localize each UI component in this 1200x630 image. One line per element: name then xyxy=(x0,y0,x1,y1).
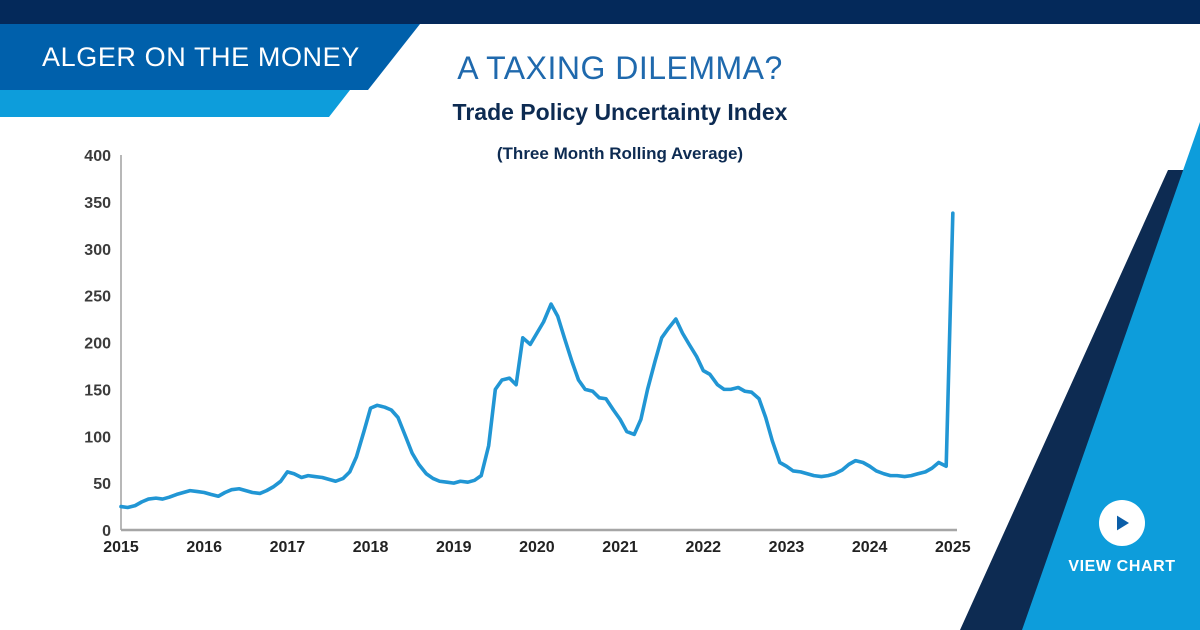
x-axis-tick-label: 2024 xyxy=(852,539,888,556)
x-axis-ticks: 2015201620172018201920202021202220232024… xyxy=(103,539,971,556)
view-chart-label: VIEW CHART xyxy=(1057,558,1187,576)
view-chart-button[interactable]: VIEW CHART xyxy=(1057,500,1187,576)
y-axis-tick-label: 250 xyxy=(84,289,111,306)
y-axis-tick-label: 300 xyxy=(84,242,111,259)
play-icon[interactable] xyxy=(1099,500,1145,546)
infographic-card: ALGER ON THE MONEY A TAXING DILEMMA? Tra… xyxy=(0,0,1200,630)
x-axis-tick-label: 2022 xyxy=(685,539,721,556)
y-axis-tick-label: 400 xyxy=(84,148,111,165)
y-axis-ticks: 050100150200250300350400 xyxy=(84,148,111,540)
y-axis-tick-label: 350 xyxy=(84,195,111,212)
data-series-line xyxy=(121,213,953,507)
x-axis-tick-label: 2017 xyxy=(270,539,306,556)
y-axis-tick-label: 0 xyxy=(102,523,111,540)
y-axis-tick-label: 200 xyxy=(84,336,111,353)
line-chart: 050100150200250300350400 201520162017201… xyxy=(0,0,1000,600)
x-axis-tick-label: 2021 xyxy=(602,539,638,556)
chart-container: 050100150200250300350400 201520162017201… xyxy=(0,0,1000,600)
y-axis-tick-label: 50 xyxy=(93,476,111,493)
x-axis-tick-label: 2016 xyxy=(186,539,222,556)
x-axis-tick-label: 2023 xyxy=(769,539,805,556)
x-axis-tick-label: 2020 xyxy=(519,539,555,556)
x-axis-tick-label: 2015 xyxy=(103,539,139,556)
y-axis-tick-label: 150 xyxy=(84,382,111,399)
x-axis-tick-label: 2018 xyxy=(353,539,389,556)
x-axis-tick-label: 2019 xyxy=(436,539,472,556)
y-axis-tick-label: 100 xyxy=(84,429,111,446)
x-axis-tick-label: 2025 xyxy=(935,539,971,556)
